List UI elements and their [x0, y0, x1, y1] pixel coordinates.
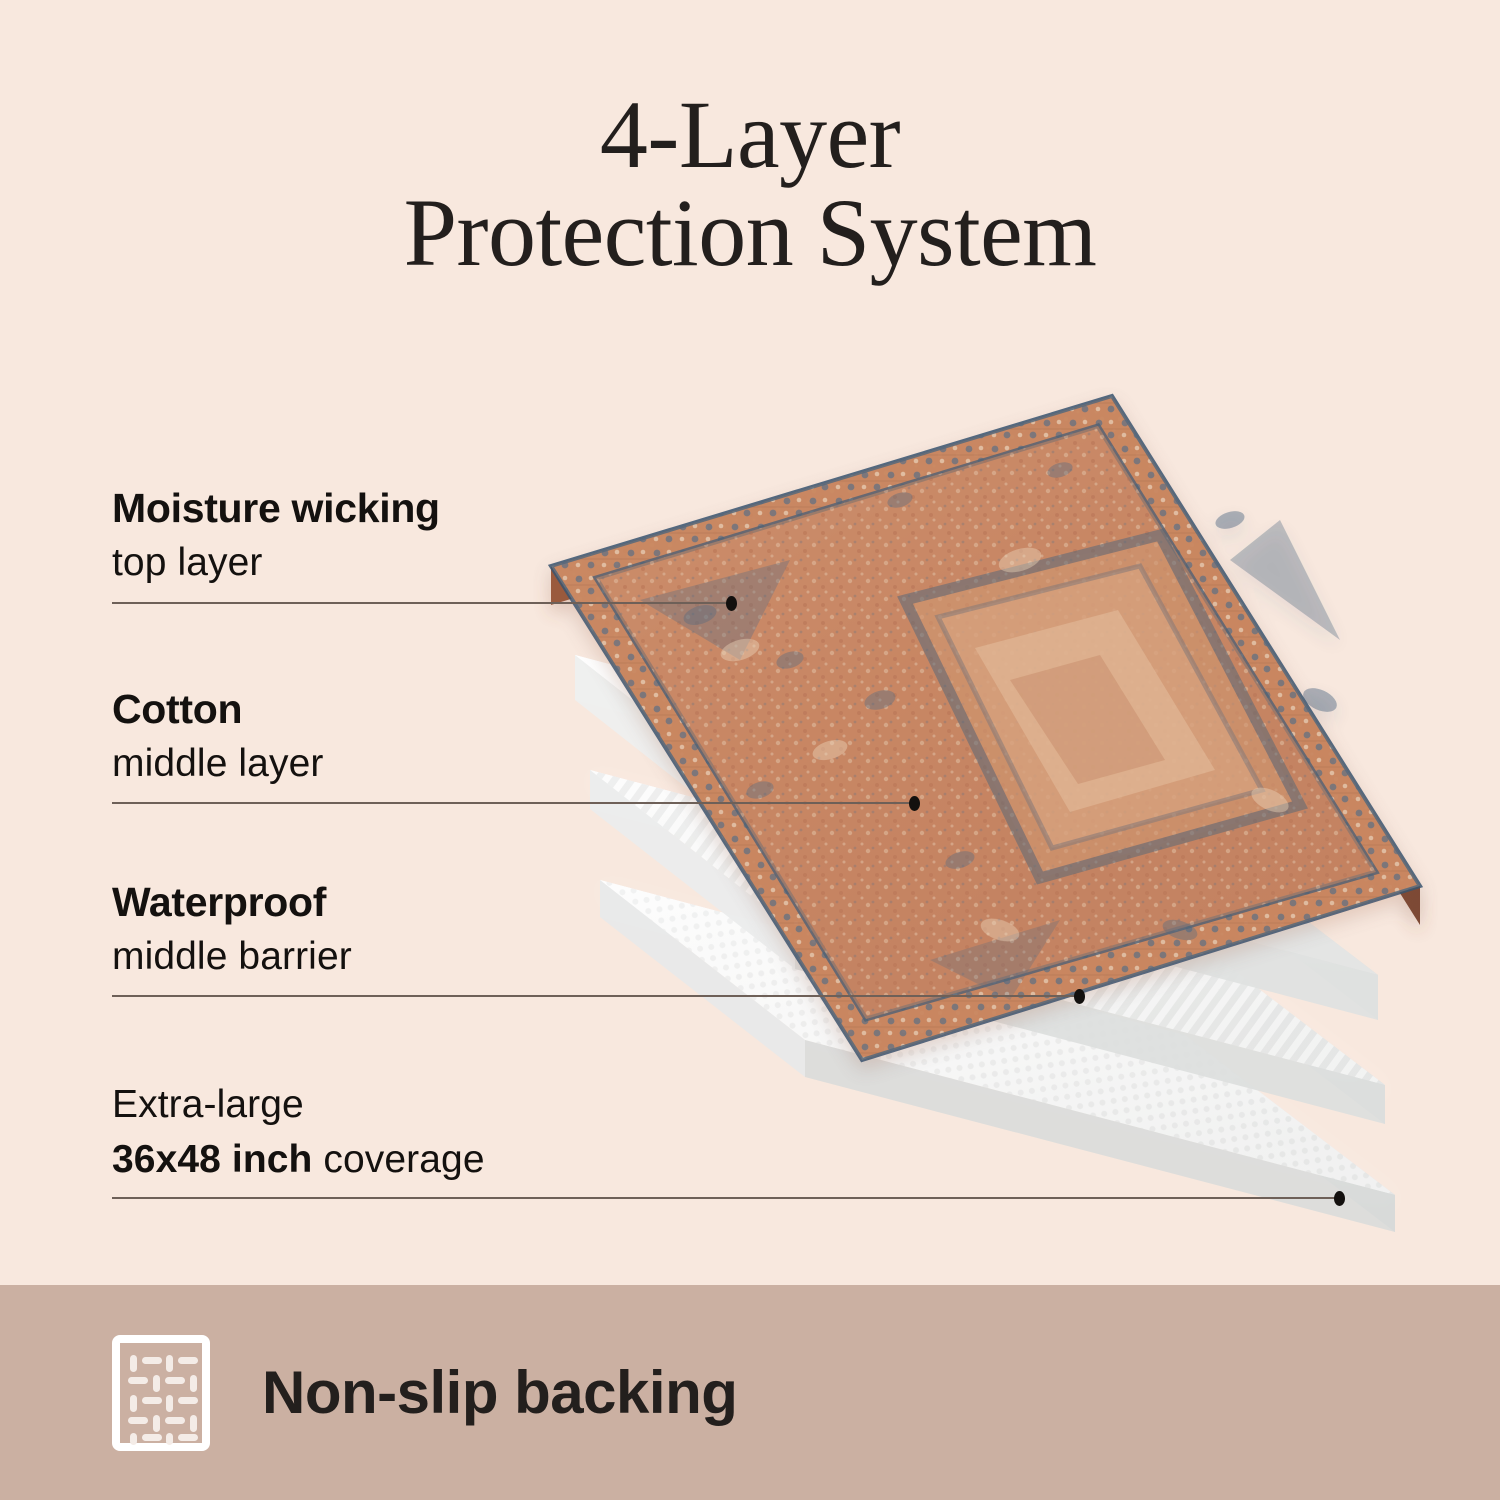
- label-heading: Waterproof: [112, 878, 352, 926]
- label-waterproof: Waterproof middle barrier: [112, 878, 352, 981]
- leader-line-moisture-wicking: [112, 602, 732, 604]
- label-subtitle: 36x48 inch coverage: [112, 1137, 485, 1184]
- label-subtitle: top layer: [112, 540, 440, 587]
- leader-dot: [726, 596, 737, 611]
- label-subtitle: middle layer: [112, 741, 323, 788]
- leader-line-coverage: [112, 1197, 1340, 1199]
- leader-dot: [909, 796, 920, 811]
- leader-line-cotton: [112, 802, 915, 804]
- label-moisture-wicking: Moisture wicking top layer: [112, 484, 440, 587]
- layer-shape-bottom: [600, 880, 1395, 1232]
- layer-shape-waterproof: [590, 770, 1385, 1124]
- label-heading: Extra-large: [112, 1082, 485, 1129]
- label-heading: Cotton: [112, 685, 323, 733]
- leader-dot: [1334, 1191, 1345, 1206]
- layer-shape-rug: [551, 396, 1420, 1060]
- layer-shape-cotton: [575, 655, 1378, 1020]
- woven-texture-icon: [112, 1335, 210, 1451]
- label-cotton: Cotton middle layer: [112, 685, 323, 788]
- leader-dot: [1074, 989, 1085, 1004]
- label-subtitle: middle barrier: [112, 934, 352, 981]
- coverage-size: 36x48 inch: [112, 1138, 312, 1181]
- non-slip-banner: Non-slip backing: [0, 1285, 1500, 1500]
- page-title: 4-Layer Protection System: [0, 86, 1500, 282]
- leader-line-waterproof: [112, 995, 1080, 997]
- title-line-1: 4-Layer: [0, 86, 1500, 184]
- label-coverage: Extra-large 36x48 inch coverage: [112, 1082, 485, 1184]
- title-line-2: Protection System: [0, 184, 1500, 282]
- label-heading: Moisture wicking: [112, 484, 440, 532]
- infographic-page: 4-Layer Protection System: [0, 0, 1500, 1500]
- coverage-rest: coverage: [312, 1138, 484, 1181]
- non-slip-label: Non-slip backing: [262, 1358, 737, 1427]
